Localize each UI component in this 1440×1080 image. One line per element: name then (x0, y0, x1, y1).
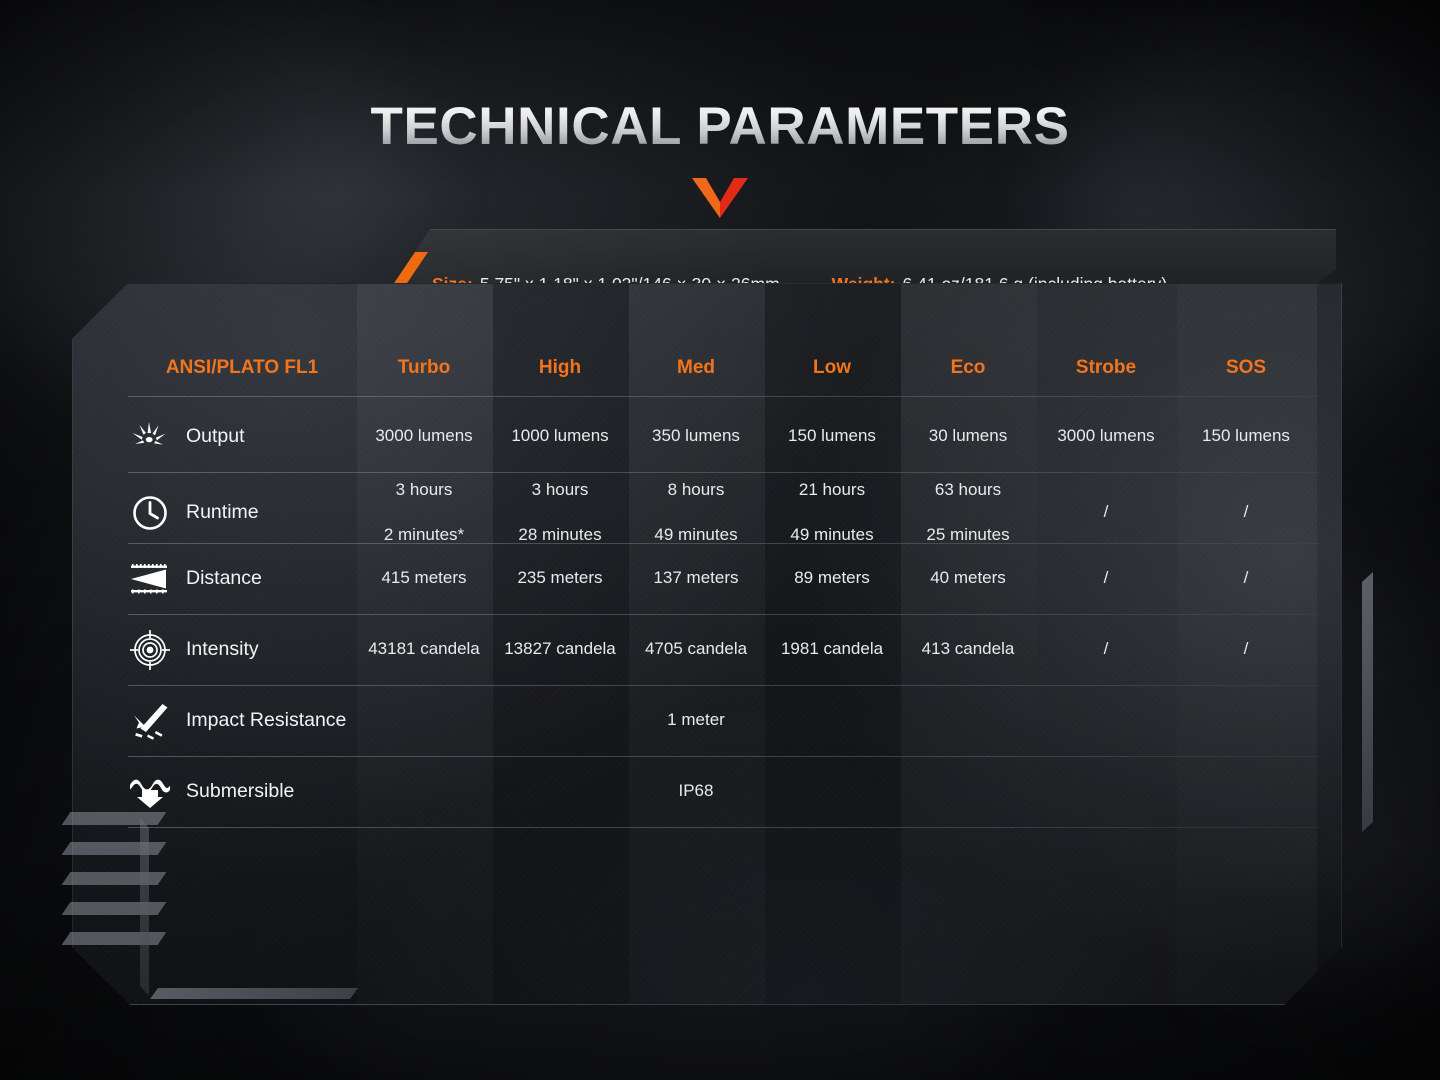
table-row-label: Distance (128, 563, 356, 595)
beam-distance-icon (128, 563, 172, 595)
table-cell: 3 hours28 minutes (492, 472, 628, 553)
table-cell: 43181 candela (356, 614, 492, 685)
table-cell: 137 meters (628, 543, 764, 614)
table-cell: / (1176, 614, 1316, 685)
table-cell-fullwidth: 1 meter (356, 685, 1036, 756)
table-row-fullwidth: Impact Resistance 1 meter (128, 685, 1342, 756)
row-label-text: Output (186, 424, 245, 450)
table-cell: 350 lumens (628, 401, 764, 472)
row-separator (128, 827, 1320, 828)
row-label-text: Distance (186, 566, 262, 592)
sunburst-icon (128, 420, 172, 454)
table-cell: 1981 candela (764, 614, 900, 685)
table-cell: / (1176, 472, 1316, 553)
row-separator (128, 396, 1320, 397)
table-row-label: Runtime (128, 493, 356, 533)
table-cell: 4705 candela (628, 614, 764, 685)
table-cell: 415 meters (356, 543, 492, 614)
submersible-icon (128, 776, 172, 808)
table-cell: / (1176, 543, 1316, 614)
page-title: TECHNICAL PARAMETERS (370, 96, 1069, 157)
table-cell: 150 lumens (1176, 401, 1316, 472)
row-label-text: Intensity (186, 637, 259, 663)
table-cell: 413 candela (900, 614, 1036, 685)
table-cell: 30 lumens (900, 401, 1036, 472)
table-cell: 8 hours49 minutes (628, 472, 764, 553)
table-header-cell: Eco (900, 335, 1036, 401)
table-cell: 40 meters (900, 543, 1036, 614)
table-row: Distance 415 meters235 meters137 meters8… (128, 543, 1342, 614)
clock-icon (128, 493, 172, 533)
decorative-right-bar (1362, 572, 1373, 832)
table-cell: / (1036, 543, 1176, 614)
table-row: Intensity 43181 candela13827 candela4705… (128, 614, 1342, 685)
page-title-wrap: TECHNICAL PARAMETERS (0, 96, 1440, 157)
table-cell: 3000 lumens (1036, 401, 1176, 472)
table-row: Runtime 3 hours2 minutes*3 hours28 minut… (128, 472, 1342, 553)
table-row-label: Submersible (128, 776, 356, 808)
impact-icon (128, 702, 172, 740)
table-header-cell: ANSI/PLATO FL1 (128, 355, 356, 380)
table-header-cell: Med (628, 335, 764, 401)
table-header-cell: Strobe (1036, 335, 1176, 401)
table-cell: / (1036, 472, 1176, 553)
table-cell: 89 meters (764, 543, 900, 614)
table-cell: 63 hours25 minutes (900, 472, 1036, 553)
table-row-label: Impact Resistance (128, 702, 356, 740)
table-cell: 13827 candela (492, 614, 628, 685)
table-cell-fullwidth: IP68 (356, 756, 1036, 827)
table-cell: 235 meters (492, 543, 628, 614)
table-header-cell: SOS (1176, 335, 1316, 401)
table-row-label: Intensity (128, 629, 356, 671)
table-cell: 150 lumens (764, 401, 900, 472)
table-header-cell: Low (764, 335, 900, 401)
spec-table: ANSI/PLATO FL1TurboHighMedLowEcoStrobeSO… (72, 283, 1342, 1005)
table-header-row: ANSI/PLATO FL1TurboHighMedLowEcoStrobeSO… (128, 335, 1342, 401)
table-row: Output 3000 lumens1000 lumens350 lumens1… (128, 401, 1342, 472)
table-cell: 3000 lumens (356, 401, 492, 472)
row-label-text: Runtime (186, 500, 259, 526)
table-row-label: Output (128, 420, 356, 454)
table-cell: 21 hours49 minutes (764, 472, 900, 553)
table-cell: 3 hours2 minutes* (356, 472, 492, 553)
chevron-down-icon (692, 178, 748, 223)
table-cell: 1000 lumens (492, 401, 628, 472)
table-cell: / (1036, 614, 1176, 685)
table-header-cell: Turbo (356, 335, 492, 401)
table-row-fullwidth: Submersible IP68 (128, 756, 1342, 827)
table-header-cell: High (492, 335, 628, 401)
row-label-text: Submersible (186, 779, 294, 805)
target-intensity-icon (128, 629, 172, 671)
row-label-text: Impact Resistance (186, 708, 346, 734)
